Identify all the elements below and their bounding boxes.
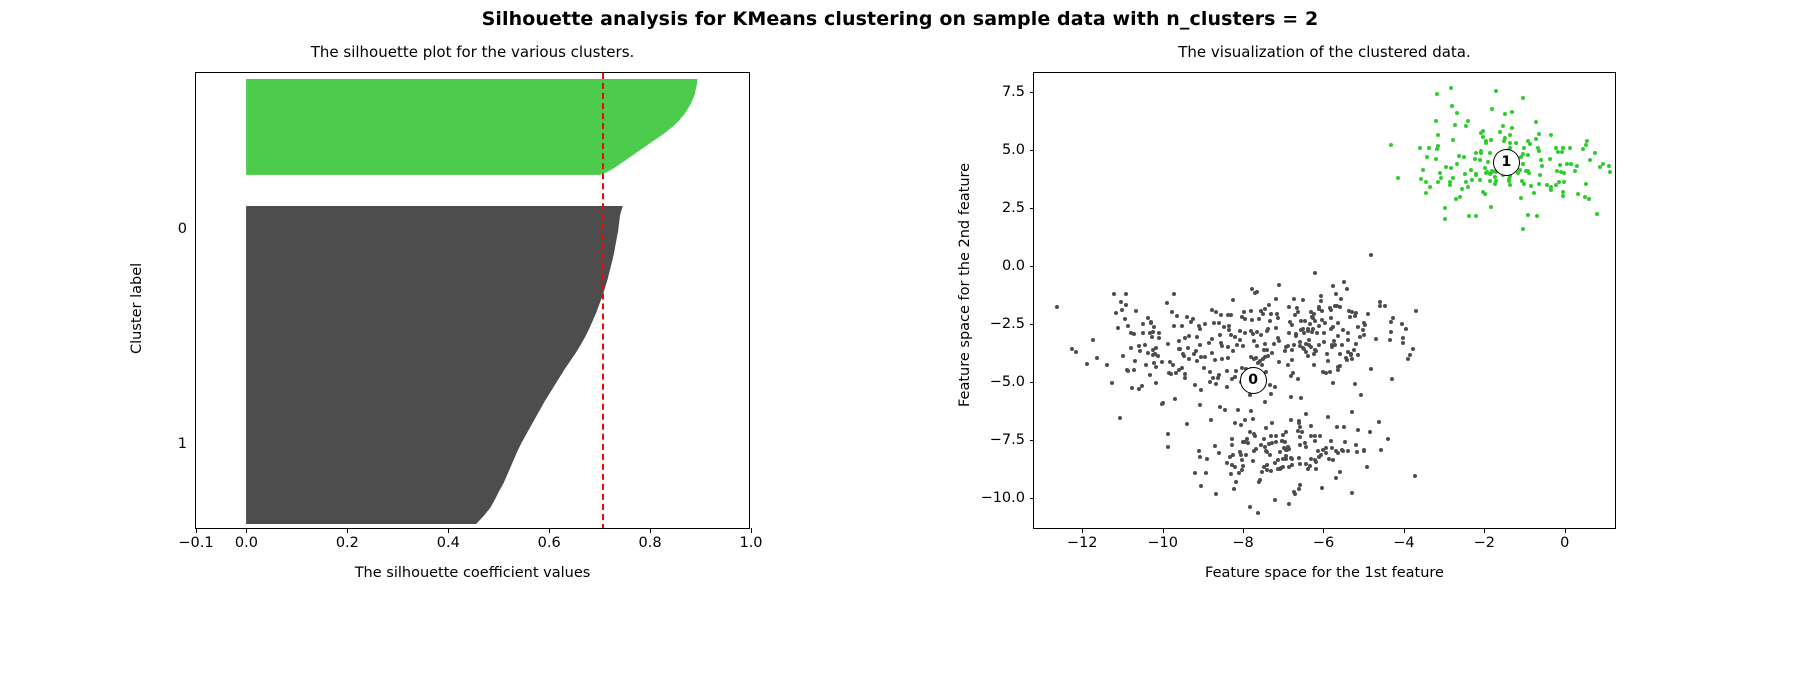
scatter-point [1262, 437, 1266, 441]
scatter-point [1225, 369, 1229, 373]
scatter-point [1120, 308, 1124, 312]
scatter-point [1344, 356, 1348, 360]
scatter-point [1199, 388, 1203, 392]
y-tick-label: −7.5 [990, 432, 1034, 448]
scatter-point [1470, 178, 1474, 182]
scatter-point [1219, 313, 1223, 317]
scatter-point [1267, 303, 1271, 307]
y-tick-label: −2.5 [990, 316, 1034, 332]
scatter-point [1346, 449, 1350, 453]
scatter-point [1451, 176, 1455, 180]
scatter-point [1146, 351, 1150, 355]
scatter-point [1469, 168, 1473, 172]
scatter-point [1449, 86, 1453, 90]
scatter-point [1203, 355, 1207, 359]
scatter-point [1119, 300, 1123, 304]
scatter-point [1342, 425, 1346, 429]
scatter-point [1242, 310, 1246, 314]
scatter-point [1444, 165, 1448, 169]
scatter-point [1193, 471, 1197, 475]
scatter-point [1338, 305, 1342, 309]
scatter-point [1458, 195, 1462, 199]
scatter-point [1352, 348, 1356, 352]
scatter-point [1173, 397, 1177, 401]
scatter-point [1290, 358, 1294, 362]
scatter-point [1258, 478, 1262, 482]
scatter-point [1414, 309, 1418, 313]
scatter-point [1324, 451, 1328, 455]
scatter-point [1227, 328, 1231, 332]
scatter-point [1234, 369, 1238, 373]
scatter-point [1549, 133, 1553, 137]
scatter-point [1169, 372, 1173, 376]
silhouette-cluster-0 [246, 206, 622, 523]
scatter-point [1451, 138, 1455, 142]
scatter-point [1185, 315, 1189, 319]
scatter-point [1481, 190, 1485, 194]
scatter-point [1527, 171, 1531, 175]
scatter-point [1320, 309, 1324, 313]
x-tick-label: −6 [1313, 528, 1334, 551]
scatter-point [1326, 415, 1330, 419]
scatter-point [1274, 440, 1278, 444]
scatter-point [1588, 158, 1592, 162]
scatter-point [1126, 324, 1130, 328]
scatter-point [1214, 310, 1218, 314]
silhouette-title: The silhouette plot for the various clus… [196, 43, 749, 61]
scatter-point [1317, 343, 1321, 347]
scatter-point [1336, 321, 1340, 325]
scatter-point [1091, 338, 1095, 342]
scatter-point [1214, 382, 1218, 386]
scatter-point [1298, 443, 1302, 447]
scatter-point [1166, 432, 1170, 436]
scatter-point [1197, 449, 1201, 453]
scatter-point [1338, 352, 1342, 356]
scatter-point [1309, 457, 1313, 461]
scatter-point [1286, 363, 1290, 367]
scatter-point [1488, 151, 1492, 155]
scatter-point [1455, 111, 1459, 115]
scatter-point [1345, 287, 1349, 291]
scatter-point [1298, 344, 1302, 348]
scatter-point [1319, 299, 1323, 303]
scatter-point [1289, 456, 1293, 460]
scatter-point [1439, 176, 1443, 180]
scatter-point [1333, 304, 1337, 308]
x-tick-label: −12 [1067, 528, 1098, 551]
scatter-point [1309, 424, 1313, 428]
scatter-point [1199, 484, 1203, 488]
scatter-point [1313, 271, 1317, 275]
scatter-point [1160, 402, 1164, 406]
scatter-point [1346, 338, 1350, 342]
scatter-point [1334, 476, 1338, 480]
scatter-point [1274, 434, 1278, 438]
scatter-point [1293, 313, 1297, 317]
scatter-point [1361, 328, 1365, 332]
scatter-point [1537, 132, 1541, 136]
scatter-point [1263, 342, 1267, 346]
scatter-point [1424, 191, 1428, 195]
scatter-point [1256, 511, 1260, 515]
scatter-point [1418, 146, 1422, 150]
scatter-point [1326, 359, 1330, 363]
scatter-point [1132, 368, 1136, 372]
scatter-point [1554, 183, 1558, 187]
scatter-point [1229, 472, 1233, 476]
scatter-point [1474, 214, 1478, 218]
scatter-point [1334, 292, 1338, 296]
scatter-point [1576, 192, 1580, 196]
scatter-point [1150, 335, 1154, 339]
scatter-point [1400, 322, 1404, 326]
scatter-point [1362, 321, 1366, 325]
y-tick-label: 7.5 [1002, 84, 1034, 100]
scatter-point [1338, 470, 1342, 474]
scatter-point [1085, 362, 1089, 366]
y-tick-label: 0 [178, 221, 196, 237]
scatter-point [1259, 333, 1263, 337]
scatter-point [1539, 158, 1543, 162]
scatter-point [1540, 164, 1544, 168]
scatter-point [1279, 466, 1283, 470]
scatter-point [1365, 465, 1369, 469]
scatter-point [1503, 112, 1507, 116]
scatter-point [1243, 317, 1247, 321]
scatter-point [1457, 154, 1461, 158]
scatter-point [1263, 307, 1267, 311]
scatter-point [1366, 312, 1370, 316]
cluster-centroid-1: 1 [1493, 149, 1520, 176]
scatter-point [1198, 455, 1202, 459]
y-tick-label: 1 [178, 436, 196, 452]
scatter-point [1454, 197, 1458, 201]
scatter-point [1336, 368, 1340, 372]
scatter-point [1203, 322, 1207, 326]
scatter-point [1212, 321, 1216, 325]
scatter-point [1239, 423, 1243, 427]
scatter-point [1425, 155, 1429, 159]
scatter-point [1329, 439, 1333, 443]
scatter-point [1276, 458, 1280, 462]
scatter-point [1334, 449, 1338, 453]
scatter-point [1130, 386, 1134, 390]
scatter-point [1406, 357, 1410, 361]
scatter-point [1489, 138, 1493, 142]
scatter-point [1251, 459, 1255, 463]
scatter-point [1160, 360, 1164, 364]
scatter-point [1189, 320, 1193, 324]
scatter-point [1177, 347, 1181, 351]
scatter-point [1438, 171, 1442, 175]
scatter-point [1354, 342, 1358, 346]
scatter-point [1269, 469, 1273, 473]
scatter-point [1198, 343, 1202, 347]
scatter-point [1362, 449, 1366, 453]
scatter-point [1306, 467, 1310, 471]
scatter-point [1313, 348, 1317, 352]
scatter-point [1450, 104, 1454, 108]
scatter-point [1554, 146, 1558, 150]
scatter-point [1292, 297, 1296, 301]
scatter-point [1419, 177, 1423, 181]
scatter-point [1274, 326, 1278, 330]
scatter-point [1388, 338, 1392, 342]
scatter-point [1154, 381, 1158, 385]
scatter-point [1241, 344, 1245, 348]
scatter-point [1260, 470, 1264, 474]
scatter-point [1488, 172, 1492, 176]
figure-suptitle: Silhouette analysis for KMeans clusterin… [0, 8, 1800, 30]
scatter-point [1369, 367, 1373, 371]
scatter-point [1350, 491, 1354, 495]
scatter-point [1312, 352, 1316, 356]
scatter-point [1379, 448, 1383, 452]
scatter-point [1251, 417, 1255, 421]
scatter-point [1266, 354, 1270, 358]
scatter-point [1294, 334, 1298, 338]
scatter-point [1268, 383, 1272, 387]
scatter-point [1565, 162, 1569, 166]
scatter-point [1317, 305, 1321, 309]
scatter-point [1448, 183, 1452, 187]
scatter-point [1341, 328, 1345, 332]
y-tick-label: −10.0 [981, 490, 1034, 506]
scatter-point [1148, 373, 1152, 377]
scatter-point [1238, 329, 1242, 333]
scatter-point [1249, 309, 1253, 313]
scatter-point [1220, 357, 1224, 361]
scatter-point [1265, 468, 1269, 472]
scatter-point [1569, 162, 1573, 166]
scatter-point [1287, 331, 1291, 335]
scatter-point [1186, 346, 1190, 350]
scatter-point [1320, 318, 1324, 322]
scatter-point [1466, 185, 1470, 189]
scatter-point [1137, 344, 1141, 348]
scatter-point [1585, 139, 1589, 143]
scatter-point [1152, 325, 1156, 329]
scatter-point [1252, 339, 1256, 343]
scatter-point [1573, 169, 1577, 173]
scatter-point [1369, 253, 1373, 257]
scatter-point [1129, 346, 1133, 350]
scatter-point [1233, 375, 1237, 379]
scatter-point [1267, 442, 1271, 446]
scatter-point [1502, 139, 1506, 143]
scatter-point [1467, 214, 1471, 218]
scatter-point [1329, 316, 1333, 320]
scatter-point [1185, 422, 1189, 426]
scatter-point [1481, 129, 1485, 133]
scatter-point [1218, 405, 1222, 409]
scatter-point [1231, 453, 1235, 457]
scatter-point [1501, 124, 1505, 128]
scatter-point [1192, 352, 1196, 356]
silhouette-ylabel: Cluster label [129, 263, 145, 354]
scatter-point [1180, 324, 1184, 328]
scatter-point [1302, 331, 1306, 335]
scatter-point [1389, 330, 1393, 334]
scatter-point [1240, 458, 1244, 462]
scatter-point [1514, 141, 1518, 145]
scatter-point [1312, 363, 1316, 367]
scatter-point [1253, 434, 1257, 438]
scatter-point [1183, 376, 1187, 380]
scatter-point [1273, 498, 1277, 502]
x-tick-label: 0 [1560, 528, 1569, 551]
scatter-point [1355, 450, 1359, 454]
scatter-point [1356, 325, 1360, 329]
scatter-point [1331, 381, 1335, 385]
scatter-point [1277, 360, 1281, 364]
scatter-point [1225, 461, 1229, 465]
scatter-point [1350, 410, 1354, 414]
scatter-point [1172, 324, 1176, 328]
scatter-point [1336, 334, 1340, 338]
scatter-point [1241, 440, 1245, 444]
scatter-point [1157, 336, 1161, 340]
scatter-point [1558, 163, 1562, 167]
scatter-point [1276, 316, 1280, 320]
scatter-point [1560, 150, 1564, 154]
scatter-point [1347, 309, 1351, 313]
scatter-point [1377, 420, 1381, 424]
scatter-point [1460, 187, 1464, 191]
scatter-point [1124, 303, 1128, 307]
scatter-point [1316, 449, 1320, 453]
scatter-point [1277, 283, 1281, 287]
scatter-point [1436, 133, 1440, 137]
scatter-point [1234, 480, 1238, 484]
scatter-point [1368, 430, 1372, 434]
scatter-point [1349, 353, 1353, 357]
scatter-point [1292, 343, 1296, 347]
scatter-point [1283, 349, 1287, 353]
scatter-point [1233, 421, 1237, 425]
scatter-point [1250, 318, 1254, 322]
scatter-point [1269, 392, 1273, 396]
scatter-point [1252, 357, 1256, 361]
silhouette-cluster-1 [246, 79, 697, 174]
scatter-point [1138, 349, 1142, 353]
scatter-point [1292, 490, 1296, 494]
scatter-point [1304, 412, 1308, 416]
scatter-point [1287, 502, 1291, 506]
scatter-point [1193, 383, 1197, 387]
scatter-point [1389, 143, 1393, 147]
scatter-point [1325, 352, 1329, 356]
x-tick-label: 0.4 [437, 528, 460, 551]
scatter-point [1124, 292, 1128, 296]
scatter-point [1479, 149, 1483, 153]
scatter-point [1401, 341, 1405, 345]
scatter-point [1270, 421, 1274, 425]
scatter-point [1436, 180, 1440, 184]
scatter-point [1306, 354, 1310, 358]
scatter-point [1239, 453, 1243, 457]
scatter-point [1342, 280, 1346, 284]
scatter-point [1464, 180, 1468, 184]
scatter-point [1260, 363, 1264, 367]
scatter-point [1232, 487, 1236, 491]
scatter-point [1231, 349, 1235, 353]
scatter-point [1217, 321, 1221, 325]
y-tick-label: 2.5 [1002, 200, 1034, 216]
scatter-point [1356, 428, 1360, 432]
scatter-point [1329, 308, 1333, 312]
scatter-point [1074, 350, 1078, 354]
scatter-point [1157, 331, 1161, 335]
scatter-point [1263, 400, 1267, 404]
scatter-point [1555, 169, 1559, 173]
scatter-point [1252, 449, 1256, 453]
scatter-point [1473, 157, 1477, 161]
scatter-point [1526, 153, 1530, 157]
scatter-point [1302, 347, 1306, 351]
silhouette-bars [196, 73, 749, 528]
scatter-point [1238, 338, 1242, 342]
scatter-point [1243, 331, 1247, 335]
scatter-point [1389, 320, 1393, 324]
scatter-point [1331, 458, 1335, 462]
scatter-point [1177, 339, 1181, 343]
scatter-point [1350, 357, 1354, 361]
scatter-point [1323, 321, 1327, 325]
scatter-point [1183, 336, 1187, 340]
scatter-point [1507, 179, 1511, 183]
cluster-centroid-0: 0 [1240, 367, 1267, 394]
scatter-point [1255, 344, 1259, 348]
scatter-point [1298, 340, 1302, 344]
scatter-point [1290, 323, 1294, 327]
scatter-point [1133, 359, 1137, 363]
scatter-point [1354, 443, 1358, 447]
scatter-point [1464, 124, 1468, 128]
scatter-point [1333, 343, 1337, 347]
scatter-point [1584, 143, 1588, 147]
scatter-point [1217, 373, 1221, 377]
scatter-xlabel: Feature space for the 1st feature [1034, 565, 1615, 581]
silhouette-average-line [602, 73, 604, 528]
scatter-point [1195, 359, 1199, 363]
y-tick-label: 0.0 [1002, 258, 1034, 274]
scatter-point [1269, 434, 1273, 438]
scatter-point [1217, 451, 1221, 455]
scatter-point [1298, 425, 1302, 429]
scatter-point [1112, 292, 1116, 296]
scatter-point [1328, 370, 1332, 374]
scatter-point [1353, 382, 1357, 386]
scatter-point [1510, 110, 1514, 114]
scatter-point [1411, 347, 1415, 351]
scatter-point [1225, 385, 1229, 389]
scatter-point [1309, 345, 1313, 349]
scatter-point [1268, 319, 1272, 323]
silhouette-axes: The silhouette plot for the various clus… [195, 72, 750, 529]
scatter-point [1244, 453, 1248, 457]
scatter-point [1428, 185, 1432, 189]
x-tick-label: 0.0 [235, 528, 258, 551]
scatter-point [1175, 314, 1179, 318]
scatter-point [1536, 146, 1540, 150]
scatter-point [1534, 137, 1538, 141]
scatter-point [1143, 343, 1147, 347]
scatter-point [1303, 319, 1307, 323]
scatter-point [1299, 319, 1303, 323]
scatter-point [1318, 434, 1322, 438]
